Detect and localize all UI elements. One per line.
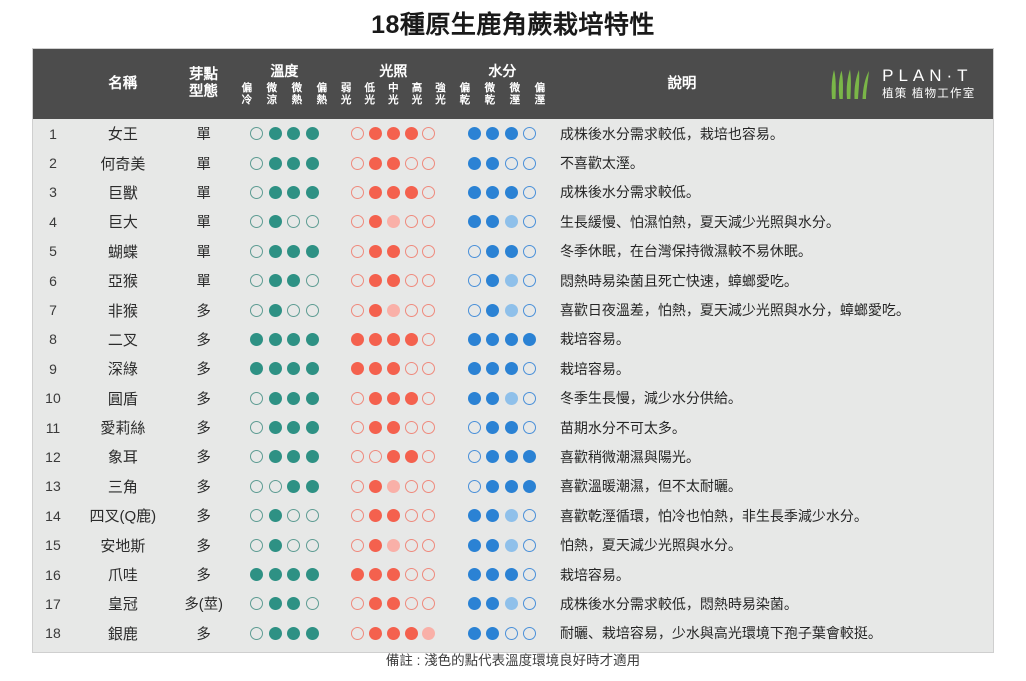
row-species-name: 何奇美 <box>73 153 173 174</box>
table-row[interactable]: 11愛莉絲多苗期水分不可太多。 <box>33 413 993 442</box>
light-dot-0-empty <box>351 304 364 317</box>
table-header-row: 名稱 芽點 型態 溫度 偏 冷 微 涼 <box>33 49 993 119</box>
light-sub-0: 弱 光 <box>334 83 358 106</box>
row-index: 13 <box>33 478 73 494</box>
light-dot-2-full <box>387 421 400 434</box>
table-row[interactable]: 15安地斯多怕熱，夏天減少光照與水分。 <box>33 530 993 559</box>
light-dot-0-empty <box>351 421 364 434</box>
temp-dot-1-full <box>269 127 282 140</box>
row-species-name: 銀鹿 <box>73 623 173 644</box>
temp-rating <box>235 157 335 170</box>
light-dot-2-full <box>387 450 400 463</box>
water-rating <box>452 127 552 140</box>
temp-dot-3-full <box>306 157 319 170</box>
water-dot-1-full <box>486 539 499 552</box>
temp-dot-3-full <box>306 362 319 375</box>
light-dot-3-empty <box>405 157 418 170</box>
table-row[interactable]: 2何奇美單不喜歡太溼。 <box>33 148 993 177</box>
water-rating <box>452 509 552 522</box>
light-dot-3-full <box>405 127 418 140</box>
temp-dot-0-empty <box>250 392 263 405</box>
water-dot-0-full <box>468 509 481 522</box>
header-temperature: 溫度 偏 冷 微 涼 微 熱 偏 熱 <box>234 49 334 119</box>
water-dot-0-full <box>468 539 481 552</box>
temp-dot-1-full <box>269 333 282 346</box>
light-dot-4-empty <box>422 539 435 552</box>
row-bud-type: 單 <box>173 211 235 232</box>
water-dot-3-empty <box>523 157 536 170</box>
row-species-name: 皇冠 <box>73 593 173 614</box>
water-dot-3-empty <box>523 597 536 610</box>
temp-rating <box>235 480 335 493</box>
light-dot-2-full <box>387 627 400 640</box>
light-dot-2-full <box>387 274 400 287</box>
temp-rating <box>235 568 335 581</box>
water-dot-2-full <box>505 127 518 140</box>
temp-dot-1-full <box>269 157 282 170</box>
water-dot-3-empty <box>523 539 536 552</box>
table-row[interactable]: 8二叉多栽培容易。 <box>33 325 993 354</box>
row-bud-type: 多 <box>173 446 235 467</box>
water-sub-2: 微 溼 <box>502 83 527 106</box>
water-sub-3: 偏 溼 <box>527 83 552 106</box>
water-dot-3-empty <box>523 627 536 640</box>
header-temperature-subs: 偏 冷 微 涼 微 熱 偏 熱 <box>234 83 334 106</box>
water-rating <box>452 245 552 258</box>
temp-dot-1-full <box>269 450 282 463</box>
temp-dot-0-full <box>250 333 263 346</box>
temp-sub-3: 偏 熱 <box>309 83 334 106</box>
water-dot-1-full <box>486 333 499 346</box>
water-dot-3-empty <box>523 392 536 405</box>
water-dot-0-empty <box>468 450 481 463</box>
temp-rating <box>235 392 335 405</box>
row-species-name: 安地斯 <box>73 535 173 556</box>
row-bud-type: 多(莖) <box>173 593 235 614</box>
logo-subtitle: 植策 植物工作室 <box>882 86 975 102</box>
water-dot-0-empty <box>468 304 481 317</box>
row-description: 喜歡乾溼循環，怕冷也怕熱，非生長季減少水分。 <box>552 506 993 526</box>
temp-dot-2-empty <box>287 509 300 522</box>
row-bud-type: 單 <box>173 270 235 291</box>
water-dot-1-full <box>486 274 499 287</box>
temp-dot-0-empty <box>250 127 263 140</box>
light-dot-4-empty <box>422 392 435 405</box>
light-dot-4-empty <box>422 186 435 199</box>
temp-dot-1-full <box>269 421 282 434</box>
light-rating <box>334 157 452 170</box>
light-dot-0-empty <box>351 627 364 640</box>
plant-brush-leaves-icon <box>829 67 873 101</box>
temp-rating <box>235 362 335 375</box>
water-dot-1-full <box>486 480 499 493</box>
water-dot-1-full <box>486 392 499 405</box>
light-dot-1-full <box>369 186 382 199</box>
water-dot-3-empty <box>523 186 536 199</box>
light-dot-0-empty <box>351 186 364 199</box>
light-dot-3-empty <box>405 539 418 552</box>
temp-dot-1-full <box>269 304 282 317</box>
light-dot-3-full <box>405 627 418 640</box>
table-row[interactable]: 13三角多喜歡溫暖潮濕，但不太耐曬。 <box>33 472 993 501</box>
row-bud-type: 單 <box>173 241 235 262</box>
row-bud-type: 多 <box>173 476 235 497</box>
table-row[interactable]: 7非猴多喜歡日夜溫差，怕熱，夏天減少光照與水分，蟑螂愛吃。 <box>33 295 993 324</box>
light-rating <box>334 333 452 346</box>
light-rating <box>334 215 452 228</box>
temp-dot-2-full <box>287 597 300 610</box>
light-dot-2-light <box>387 539 400 552</box>
water-rating <box>452 480 552 493</box>
temp-rating <box>235 245 335 258</box>
temp-dot-3-full <box>306 333 319 346</box>
temp-dot-1-full <box>269 568 282 581</box>
water-dot-0-empty <box>468 421 481 434</box>
light-dot-2-full <box>387 392 400 405</box>
row-index: 16 <box>33 567 73 583</box>
light-rating <box>334 568 452 581</box>
logo-wordmark: PLAN·T <box>882 66 975 86</box>
water-rating <box>452 421 552 434</box>
temp-dot-0-empty <box>250 274 263 287</box>
temp-dot-0-full <box>250 568 263 581</box>
row-species-name: 二叉 <box>73 329 173 350</box>
header-water-subs: 偏 乾 微 乾 微 溼 偏 溼 <box>452 83 552 106</box>
temp-dot-1-full <box>269 186 282 199</box>
light-dot-4-empty <box>422 568 435 581</box>
light-dot-4-empty <box>422 274 435 287</box>
table-row[interactable]: 14四叉(Q鹿)多喜歡乾溼循環，怕冷也怕熱，非生長季減少水分。 <box>33 501 993 530</box>
row-description: 栽培容易。 <box>552 359 993 379</box>
light-dot-0-empty <box>351 597 364 610</box>
water-dot-1-full <box>486 509 499 522</box>
water-dot-1-full <box>486 627 499 640</box>
light-rating <box>334 627 452 640</box>
light-rating <box>334 362 452 375</box>
temp-dot-1-empty <box>269 480 282 493</box>
table-row[interactable]: 4巨大單生長緩慢、怕濕怕熱，夏天減少光照與水分。 <box>33 207 993 236</box>
table-row[interactable]: 1女王單成株後水分需求較低，栽培也容易。 <box>33 119 993 148</box>
row-description: 冬季休眠，在台灣保持微濕較不易休眠。 <box>552 241 993 261</box>
table-row[interactable]: 3巨獸單成株後水分需求較低。 <box>33 178 993 207</box>
row-index: 2 <box>33 155 73 171</box>
light-dot-3-empty <box>405 274 418 287</box>
row-index: 9 <box>33 361 73 377</box>
water-dot-0-empty <box>468 274 481 287</box>
row-description: 生長緩慢、怕濕怕熱，夏天減少光照與水分。 <box>552 212 993 232</box>
light-sub-3: 高 光 <box>405 83 429 106</box>
light-dot-2-light <box>387 480 400 493</box>
water-dot-2-light <box>505 597 518 610</box>
temp-rating <box>235 509 335 522</box>
water-dot-2-light <box>505 392 518 405</box>
temp-dot-0-empty <box>250 627 263 640</box>
table-row[interactable]: 16爪哇多栽培容易。 <box>33 560 993 589</box>
water-dot-1-full <box>486 157 499 170</box>
row-description: 栽培容易。 <box>552 329 993 349</box>
water-dot-2-light <box>505 274 518 287</box>
light-rating <box>334 509 452 522</box>
header-water: 水分 偏 乾 微 乾 微 溼 偏 溼 <box>452 49 552 119</box>
light-dot-1-full <box>369 539 382 552</box>
row-species-name: 深綠 <box>73 358 173 379</box>
temp-dot-1-full <box>269 215 282 228</box>
row-bud-type: 多 <box>173 623 235 644</box>
temp-dot-0-empty <box>250 597 263 610</box>
light-dot-1-empty <box>369 450 382 463</box>
table-row[interactable]: 6亞猴單悶熱時易染菌且死亡快速，蟑螂愛吃。 <box>33 266 993 295</box>
table-row[interactable]: 12象耳多喜歡稍微潮濕與陽光。 <box>33 442 993 471</box>
temp-dot-2-full <box>287 186 300 199</box>
temp-dot-0-empty <box>250 421 263 434</box>
row-index: 18 <box>33 625 73 641</box>
light-dot-3-empty <box>405 509 418 522</box>
water-dot-2-full <box>505 568 518 581</box>
row-index: 15 <box>33 537 73 553</box>
light-dot-4-empty <box>422 215 435 228</box>
temp-dot-3-empty <box>306 539 319 552</box>
temp-dot-3-empty <box>306 215 319 228</box>
light-dot-1-full <box>369 480 382 493</box>
light-dot-1-full <box>369 362 382 375</box>
light-dot-1-full <box>369 509 382 522</box>
temp-dot-2-full <box>287 392 300 405</box>
temp-dot-0-empty <box>250 186 263 199</box>
temp-rating <box>235 450 335 463</box>
temp-dot-2-full <box>287 157 300 170</box>
water-rating <box>452 627 552 640</box>
temp-dot-2-full <box>287 627 300 640</box>
light-rating <box>334 597 452 610</box>
row-species-name: 非猴 <box>73 300 173 321</box>
header-description-label: 說明 <box>667 76 696 93</box>
water-rating <box>452 597 552 610</box>
temp-sub-2: 微 熱 <box>284 83 309 106</box>
temp-rating <box>235 627 335 640</box>
light-dot-3-full <box>405 392 418 405</box>
water-dot-0-empty <box>468 480 481 493</box>
light-dot-3-empty <box>405 362 418 375</box>
water-dot-2-full <box>505 450 518 463</box>
water-sub-0: 偏 乾 <box>452 83 477 106</box>
water-dot-2-full <box>505 480 518 493</box>
light-rating <box>334 539 452 552</box>
water-rating <box>452 215 552 228</box>
light-rating <box>334 274 452 287</box>
light-dot-4-light <box>422 627 435 640</box>
light-dot-1-full <box>369 333 382 346</box>
light-dot-1-full <box>369 157 382 170</box>
light-dot-1-full <box>369 421 382 434</box>
light-dot-2-full <box>387 127 400 140</box>
row-index: 10 <box>33 390 73 406</box>
light-dot-4-empty <box>422 509 435 522</box>
water-dot-0-full <box>468 157 481 170</box>
row-description: 耐曬、栽培容易，少水與高光環境下孢子葉會較挺。 <box>552 623 993 643</box>
light-dot-3-empty <box>405 245 418 258</box>
water-dot-2-light <box>505 304 518 317</box>
table-row[interactable]: 18銀鹿多耐曬、栽培容易，少水與高光環境下孢子葉會較挺。 <box>33 619 993 648</box>
row-bud-type: 多 <box>173 417 235 438</box>
temp-dot-3-full <box>306 392 319 405</box>
table-row[interactable]: 10圓盾多冬季生長慢，減少水分供給。 <box>33 384 993 413</box>
temp-dot-3-full <box>306 450 319 463</box>
table-row[interactable]: 17皇冠多(莖)成株後水分需求較低，悶熱時易染菌。 <box>33 589 993 618</box>
header-bud-label-line1: 芽點 <box>189 67 218 84</box>
temp-dot-0-empty <box>250 304 263 317</box>
light-sub-2: 中 光 <box>382 83 406 106</box>
light-dot-0-empty <box>351 392 364 405</box>
light-dot-0-full <box>351 333 364 346</box>
water-dot-3-empty <box>523 421 536 434</box>
row-bud-type: 單 <box>173 182 235 203</box>
water-dot-1-full <box>486 127 499 140</box>
row-bud-type: 多 <box>173 300 235 321</box>
cultivation-table: 名稱 芽點 型態 溫度 偏 冷 微 涼 <box>32 48 994 653</box>
water-dot-3-empty <box>523 127 536 140</box>
water-dot-3-empty <box>523 215 536 228</box>
temp-dot-0-empty <box>250 157 263 170</box>
row-index: 6 <box>33 273 73 289</box>
row-bud-type: 多 <box>173 388 235 409</box>
water-rating <box>452 362 552 375</box>
water-dot-2-empty <box>505 157 518 170</box>
row-index: 11 <box>33 420 73 436</box>
water-dot-2-full <box>505 186 518 199</box>
water-rating <box>452 274 552 287</box>
temp-dot-2-full <box>287 274 300 287</box>
water-dot-0-full <box>468 333 481 346</box>
header-name: 名稱 <box>73 49 173 119</box>
brand-logo: PLAN·T 植策 植物工作室 <box>812 49 993 119</box>
row-description: 栽培容易。 <box>552 565 993 585</box>
water-dot-1-full <box>486 568 499 581</box>
water-dot-3-empty <box>523 274 536 287</box>
temp-rating <box>235 186 335 199</box>
light-dot-0-empty <box>351 450 364 463</box>
light-dot-0-empty <box>351 509 364 522</box>
light-dot-2-full <box>387 245 400 258</box>
water-dot-1-full <box>486 421 499 434</box>
temp-dot-2-full <box>287 450 300 463</box>
light-dot-3-full <box>405 450 418 463</box>
water-dot-2-full <box>505 362 518 375</box>
light-rating <box>334 245 452 258</box>
row-species-name: 女王 <box>73 123 173 144</box>
temp-rating <box>235 333 335 346</box>
light-dot-2-full <box>387 509 400 522</box>
light-dot-1-full <box>369 304 382 317</box>
temp-rating <box>235 127 335 140</box>
row-index: 8 <box>33 331 73 347</box>
temp-dot-2-full <box>287 568 300 581</box>
water-dot-2-light <box>505 509 518 522</box>
light-dot-2-full <box>387 333 400 346</box>
light-dot-0-empty <box>351 157 364 170</box>
temp-dot-3-full <box>306 186 319 199</box>
water-rating <box>452 333 552 346</box>
row-description: 喜歡溫暖潮濕，但不太耐曬。 <box>552 476 993 496</box>
light-dot-0-empty <box>351 245 364 258</box>
light-rating <box>334 186 452 199</box>
temp-dot-0-empty <box>250 245 263 258</box>
light-dot-1-full <box>369 627 382 640</box>
light-sub-1: 低 光 <box>358 83 382 106</box>
water-dot-0-full <box>468 186 481 199</box>
header-light-label: 光照 <box>379 62 407 80</box>
table-body: 1女王單成株後水分需求較低，栽培也容易。2何奇美單不喜歡太溼。3巨獸單成株後水分… <box>33 119 993 652</box>
water-dot-0-full <box>468 215 481 228</box>
light-dot-3-empty <box>405 421 418 434</box>
footnote: 備註 : 淺色的點代表溫度環境良好時才適用 <box>0 649 1026 669</box>
water-dot-3-empty <box>523 304 536 317</box>
water-dot-1-full <box>486 215 499 228</box>
temp-rating <box>235 215 335 228</box>
temp-dot-2-full <box>287 421 300 434</box>
temp-dot-1-full <box>269 245 282 258</box>
temp-dot-3-full <box>306 568 319 581</box>
row-species-name: 愛莉絲 <box>73 417 173 438</box>
light-dot-2-light <box>387 215 400 228</box>
header-light: 光照 弱 光 低 光 中 光 高 光 <box>334 49 452 119</box>
water-rating <box>452 186 552 199</box>
light-dot-4-empty <box>422 480 435 493</box>
temp-dot-3-full <box>306 245 319 258</box>
row-description: 喜歡稍微潮濕與陽光。 <box>552 447 993 467</box>
light-dot-1-full <box>369 597 382 610</box>
header-index <box>33 49 73 119</box>
row-species-name: 巨獸 <box>73 182 173 203</box>
light-dot-3-full <box>405 333 418 346</box>
light-dot-3-empty <box>405 215 418 228</box>
water-dot-0-empty <box>468 245 481 258</box>
light-dot-4-empty <box>422 157 435 170</box>
water-dot-0-full <box>468 127 481 140</box>
row-description: 成株後水分需求較低，栽培也容易。 <box>552 124 993 144</box>
table-row[interactable]: 5蝴蝶單冬季休眠，在台灣保持微濕較不易休眠。 <box>33 237 993 266</box>
row-species-name: 象耳 <box>73 446 173 467</box>
row-index: 1 <box>33 126 73 142</box>
light-dot-0-empty <box>351 127 364 140</box>
light-dot-4-empty <box>422 127 435 140</box>
temp-dot-1-full <box>269 539 282 552</box>
light-dot-1-full <box>369 245 382 258</box>
light-dot-2-light <box>387 304 400 317</box>
table-row[interactable]: 9深綠多栽培容易。 <box>33 354 993 383</box>
light-dot-2-full <box>387 362 400 375</box>
water-dot-0-full <box>468 597 481 610</box>
temp-dot-0-empty <box>250 215 263 228</box>
row-index: 4 <box>33 214 73 230</box>
water-dot-1-full <box>486 186 499 199</box>
row-description: 冬季生長慢，減少水分供給。 <box>552 388 993 408</box>
row-description: 悶熱時易染菌且死亡快速，蟑螂愛吃。 <box>552 271 993 291</box>
header-description: 說明 <box>552 49 811 119</box>
header-temperature-label: 溫度 <box>270 62 298 80</box>
water-rating <box>452 568 552 581</box>
temp-dot-2-empty <box>287 215 300 228</box>
temp-dot-1-full <box>269 597 282 610</box>
water-dot-2-full <box>505 333 518 346</box>
light-dot-2-full <box>387 186 400 199</box>
row-index: 3 <box>33 184 73 200</box>
temp-dot-2-empty <box>287 304 300 317</box>
water-dot-3-full <box>523 450 536 463</box>
row-species-name: 四叉(Q鹿) <box>73 505 173 526</box>
temp-dot-0-empty <box>250 450 263 463</box>
row-description: 怕熱，夏天減少光照與水分。 <box>552 535 993 555</box>
water-dot-2-full <box>505 421 518 434</box>
